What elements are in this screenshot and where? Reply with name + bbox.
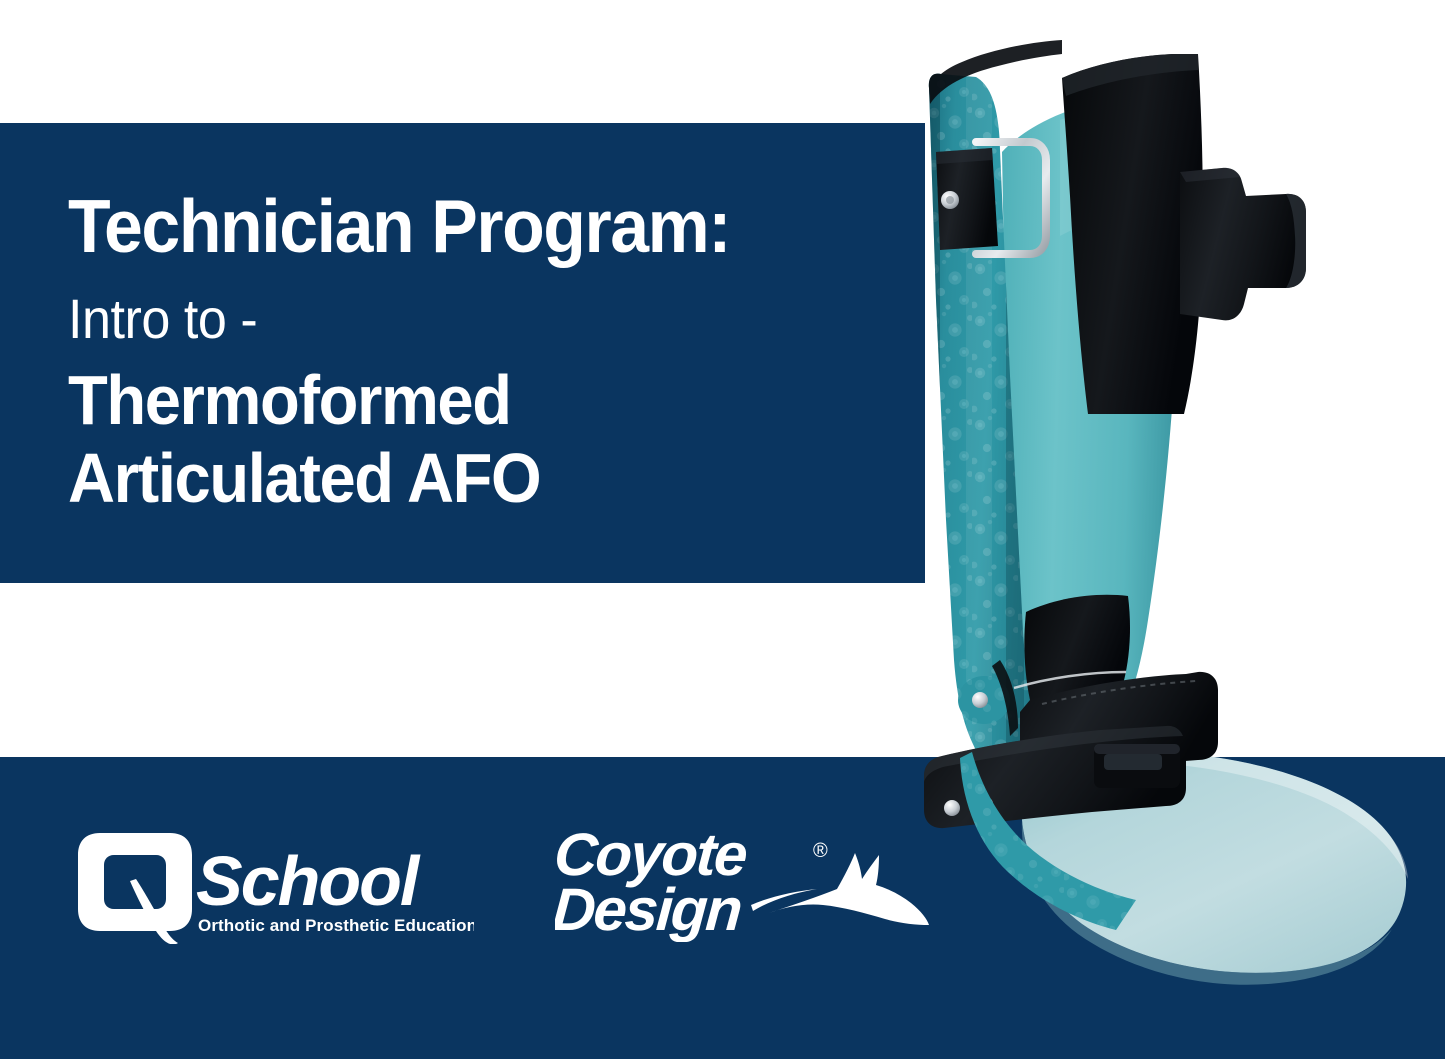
logo-row: School Orthotic and Prosthetic Education… xyxy=(0,757,1000,1059)
registered-mark: ® xyxy=(813,840,828,862)
qschool-q-mark xyxy=(78,833,192,944)
coyote-word-design: Design xyxy=(555,876,743,942)
svg-text:School: School xyxy=(196,842,421,920)
coyote-design-logo: Coyote Design ® xyxy=(555,817,935,942)
qschool-wordmark: School xyxy=(196,842,421,920)
qschool-logo: School Orthotic and Prosthetic Education xyxy=(74,819,474,944)
coyote-head-icon xyxy=(751,853,929,925)
program-title: Technician Program: xyxy=(68,188,859,265)
afo-calf-strap xyxy=(1180,168,1306,321)
course-intro-label: Intro to - xyxy=(68,291,859,347)
strap-buckle-icon xyxy=(1094,744,1180,788)
headline-block: Technician Program: Intro to - Thermofor… xyxy=(68,123,918,583)
course-title-line-2: Articulated AFO xyxy=(68,439,859,517)
poster-card: Technician Program: Intro to - Thermofor… xyxy=(0,0,1445,1059)
course-title-line-1: Thermoformed xyxy=(68,361,859,439)
qschool-tagline: Orthotic and Prosthetic Education xyxy=(198,916,474,935)
rivet-icon xyxy=(972,692,988,708)
